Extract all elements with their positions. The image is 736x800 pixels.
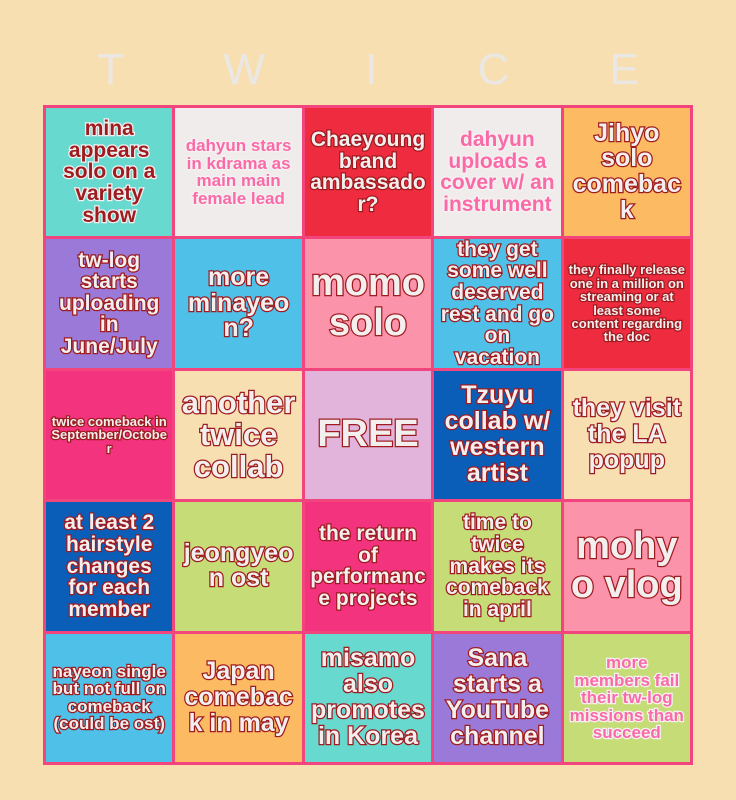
- bingo-grid: mina appears solo on a variety showdahyu…: [43, 105, 693, 765]
- bingo-cell[interactable]: Chaeyoung brand ambassador?: [305, 108, 431, 236]
- bingo-cell-label: momo solo: [310, 264, 426, 342]
- bingo-cell[interactable]: nayeon single but not full on comeback (…: [46, 634, 172, 762]
- bingo-cell-label: another twice collab: [180, 387, 296, 483]
- bingo-cell-label: time to twice makes its comeback in apri…: [439, 512, 555, 620]
- bingo-cell[interactable]: more minayeon?: [175, 239, 301, 367]
- bingo-cell-label: Sana starts a YouTube channel: [439, 646, 555, 749]
- bingo-cell-label: more minayeon?: [180, 265, 296, 342]
- bingo-cell-label: Tzuyu collab w/ western artist: [439, 383, 555, 486]
- bingo-card: T W I C E mina appears solo on a variety…: [0, 0, 736, 800]
- bingo-cell[interactable]: dahyun uploads a cover w/ an instrument: [434, 108, 560, 236]
- bingo-cell[interactable]: another twice collab: [175, 371, 301, 499]
- bingo-cell[interactable]: they visit the LA popup: [564, 371, 690, 499]
- bingo-cell-label: at least 2 hairstyle changes for each me…: [51, 512, 167, 620]
- bingo-cell[interactable]: at least 2 hairstyle changes for each me…: [46, 502, 172, 630]
- bingo-cell[interactable]: Tzuyu collab w/ western artist: [434, 371, 560, 499]
- bingo-cell[interactable]: more members fail their tw-log missions …: [564, 634, 690, 762]
- bingo-cell-label: mina appears solo on a variety show: [51, 118, 167, 226]
- bingo-cell[interactable]: the return of performance projects: [305, 502, 431, 630]
- bingo-cell-label: misamo also promotes in Korea: [310, 646, 426, 749]
- bingo-cell[interactable]: time to twice makes its comeback in apri…: [434, 502, 560, 630]
- bingo-cell-label: they get some well deserved rest and go …: [439, 239, 555, 367]
- bingo-cell-label: more members fail their tw-log missions …: [569, 654, 685, 742]
- bingo-cell-label: Chaeyoung brand ambassador?: [310, 129, 426, 216]
- bingo-cell[interactable]: Sana starts a YouTube channel: [434, 634, 560, 762]
- bingo-cell-label: they finally release one in a million on…: [569, 263, 685, 343]
- bingo-cell-label: nayeon single but not full on comeback (…: [51, 663, 167, 733]
- bingo-cell[interactable]: Japan comeback in may: [175, 634, 301, 762]
- bingo-cell[interactable]: tw-log starts uploading in June/July: [46, 239, 172, 367]
- bingo-cell[interactable]: FREE: [305, 371, 431, 499]
- bingo-cell[interactable]: misamo also promotes in Korea: [305, 634, 431, 762]
- bingo-cell-label: they visit the LA popup: [569, 396, 685, 473]
- bingo-cell[interactable]: they finally release one in a million on…: [564, 239, 690, 367]
- bingo-cell-label: dahyun uploads a cover w/ an instrument: [439, 129, 555, 216]
- bingo-cell[interactable]: mohyo vlog: [564, 502, 690, 630]
- bingo-cell-label: Japan comeback in may: [180, 659, 296, 736]
- bingo-cell[interactable]: they get some well deserved rest and go …: [434, 239, 560, 367]
- page-title: T W I C E: [43, 42, 693, 98]
- bingo-cell-label: Jihyo solo comeback: [569, 121, 685, 224]
- bingo-cell-label: tw-log starts uploading in June/July: [51, 250, 167, 358]
- bingo-cell-label: dahyun stars in kdrama as main main fema…: [180, 137, 296, 207]
- bingo-cell[interactable]: twice comeback in September/October: [46, 371, 172, 499]
- bingo-cell-label: the return of performance projects: [310, 523, 426, 610]
- bingo-cell[interactable]: jeongyeon ost: [175, 502, 301, 630]
- bingo-cell[interactable]: Jihyo solo comeback: [564, 108, 690, 236]
- bingo-cell-label: mohyo vlog: [569, 527, 685, 605]
- bingo-cell[interactable]: dahyun stars in kdrama as main main fema…: [175, 108, 301, 236]
- bingo-cell[interactable]: momo solo: [305, 239, 431, 367]
- bingo-cell-label: twice comeback in September/October: [51, 415, 167, 455]
- bingo-cell[interactable]: mina appears solo on a variety show: [46, 108, 172, 236]
- bingo-cell-label: jeongyeon ost: [180, 541, 296, 593]
- bingo-cell-label: FREE: [310, 415, 426, 454]
